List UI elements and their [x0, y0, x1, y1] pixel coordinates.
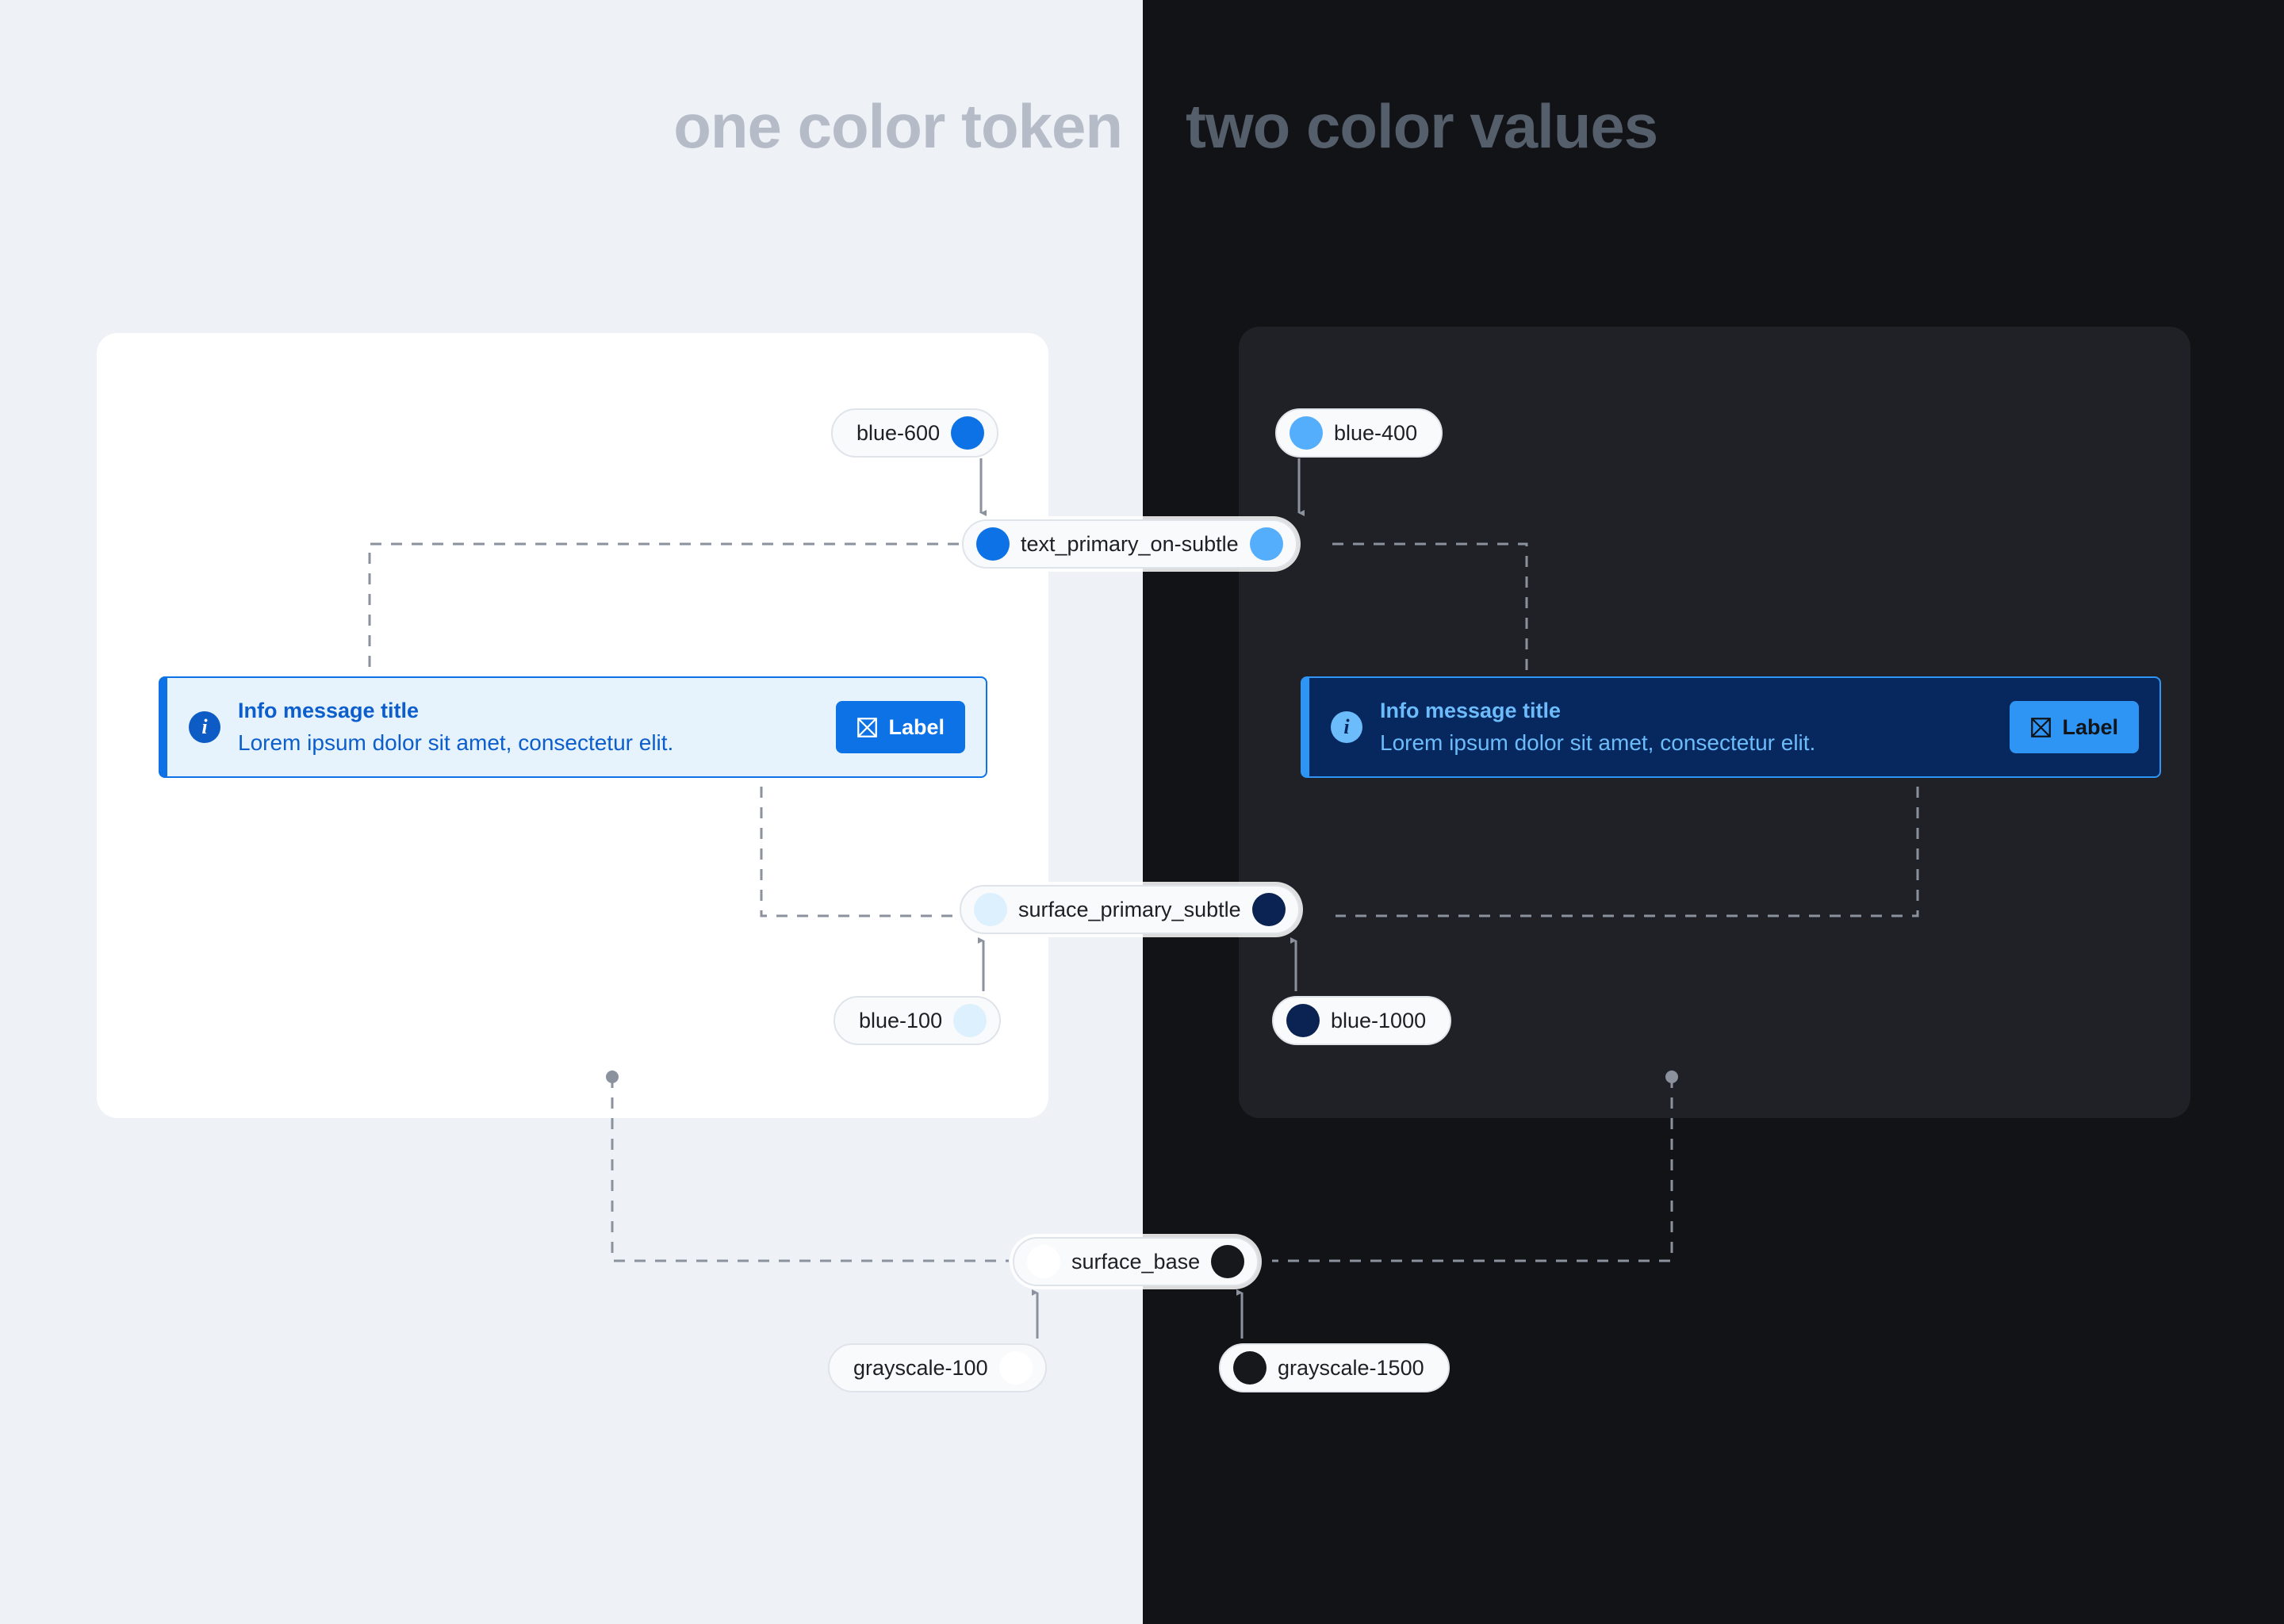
token-pill-surface-base[interactable]: surface_base: [1013, 1237, 1259, 1286]
boxed-x-icon: [856, 717, 878, 738]
alert-description: Lorem ipsum dolor sit amet, consectetur …: [1380, 729, 2010, 756]
info-alert-light: i Info message title Lorem ipsum dolor s…: [159, 676, 987, 778]
primitive-pill-grayscale-100[interactable]: grayscale-100: [828, 1343, 1047, 1392]
color-swatch-blue-1000: [1286, 1004, 1320, 1037]
color-swatch-light-value: [1027, 1245, 1060, 1278]
color-swatch-dark-value: [1211, 1245, 1244, 1278]
token-label: surface_primary_subtle: [1007, 898, 1252, 922]
primitive-label: blue-600: [845, 421, 951, 446]
alert-action-label: Label: [2062, 715, 2118, 740]
color-swatch-blue-600: [951, 416, 984, 450]
color-swatch-grayscale-100: [999, 1351, 1033, 1385]
primitive-label: blue-1000: [1320, 1009, 1437, 1033]
primitive-pill-blue-100[interactable]: blue-100: [834, 996, 1001, 1045]
primitive-pill-blue-600[interactable]: blue-600: [831, 408, 998, 458]
alert-title: Info message title: [238, 698, 836, 725]
info-icon: i: [189, 711, 220, 743]
primitive-pill-grayscale-1500[interactable]: grayscale-1500: [1219, 1343, 1450, 1392]
alert-body: Info message title Lorem ipsum dolor sit…: [1380, 698, 2010, 756]
color-swatch-light-value: [976, 527, 1010, 561]
primitive-label: blue-400: [1323, 421, 1428, 446]
info-icon: i: [1331, 711, 1362, 743]
color-swatch-light-value: [974, 893, 1007, 926]
color-swatch-grayscale-1500: [1233, 1351, 1267, 1385]
alert-action-button[interactable]: Label: [2010, 701, 2139, 753]
boxed-x-icon: [2030, 717, 2052, 738]
primitive-pill-blue-400[interactable]: blue-400: [1275, 408, 1443, 458]
headline: one color token two color values: [0, 82, 2284, 170]
token-pill-surface-primary-subtle[interactable]: surface_primary_subtle: [960, 885, 1300, 934]
alert-action-button[interactable]: Label: [836, 701, 965, 753]
alert-body: Info message title Lorem ipsum dolor sit…: [238, 698, 836, 756]
token-label: text_primary_on-subtle: [1010, 532, 1250, 557]
alert-title: Info message title: [1380, 698, 2010, 725]
token-pill-text-primary-on-subtle[interactable]: text_primary_on-subtle: [962, 519, 1297, 569]
primitive-label: blue-100: [848, 1009, 953, 1033]
headline-right-text: two color values: [1143, 90, 2284, 163]
color-swatch-blue-100: [953, 1004, 987, 1037]
color-swatch-dark-value: [1250, 527, 1283, 561]
color-swatch-blue-400: [1290, 416, 1323, 450]
alert-action-label: Label: [888, 715, 945, 740]
alert-description: Lorem ipsum dolor sit amet, consectetur …: [238, 729, 836, 756]
headline-left-text: one color token: [0, 90, 1143, 163]
primitive-label: grayscale-100: [842, 1356, 999, 1381]
primitive-label: grayscale-1500: [1267, 1356, 1435, 1381]
info-alert-dark: i Info message title Lorem ipsum dolor s…: [1301, 676, 2161, 778]
primitive-pill-blue-1000[interactable]: blue-1000: [1272, 996, 1451, 1045]
token-label: surface_base: [1060, 1250, 1211, 1274]
color-swatch-dark-value: [1252, 893, 1286, 926]
diagram-stage: one color token two color values: [0, 0, 2284, 1624]
